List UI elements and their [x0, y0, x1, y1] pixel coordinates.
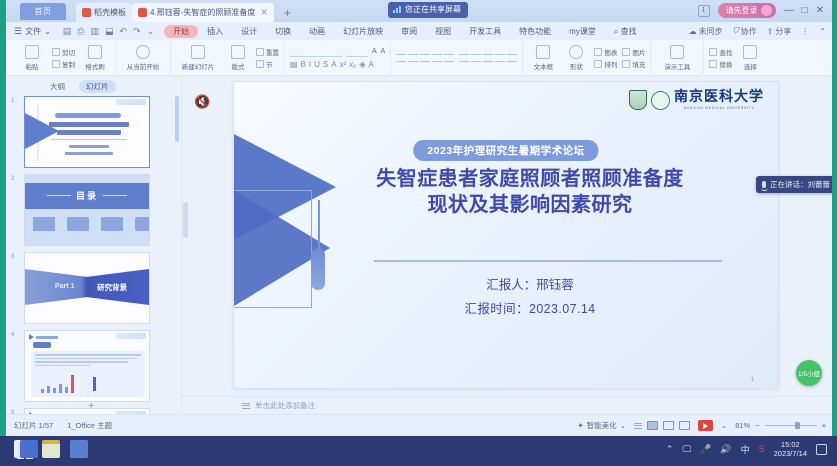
clock-date: 2023/7/14 — [774, 449, 807, 458]
print-icon[interactable]: ⎙ — [77, 26, 84, 37]
textbox-button[interactable]: 文本框 — [528, 45, 558, 71]
font-family-input[interactable] — [290, 47, 342, 57]
slide-number: 2 — [11, 176, 14, 182]
font-controls: A A ▤ B I U S A x² x₂ ◈ — [290, 47, 385, 69]
slide-thumbnail-4[interactable] — [24, 330, 150, 402]
tab-close-icon[interactable]: ✕ — [260, 7, 268, 18]
export-pdf-icon[interactable]: ⬓ — [105, 26, 114, 37]
speaking-label: 正在讲话：刘蕾蕾 — [770, 179, 830, 190]
paste-icon — [25, 45, 39, 59]
grow-font-button[interactable]: A — [372, 48, 377, 55]
ribbon-tab-developer[interactable]: 开发工具 — [460, 25, 510, 38]
ribbon-tab-design[interactable]: 设计 — [232, 25, 266, 38]
ribbon-tab-start[interactable]: 开始 — [164, 25, 198, 38]
thumb-rule — [51, 139, 127, 140]
increase-indent-button[interactable] — [432, 54, 442, 62]
taskbar-apps — [14, 440, 88, 458]
slide-thumbnail-1[interactable] — [24, 96, 150, 168]
subscript-button[interactable]: x₂ — [349, 60, 356, 69]
pane-resize-handle[interactable] — [183, 202, 188, 238]
ribbon-tab-slideshow[interactable]: 幻灯片放映 — [334, 25, 392, 38]
title-bar-right: 1 请先登录 — □ ✕ — [698, 3, 824, 18]
more-options-icon[interactable]: ⋮ — [801, 27, 809, 36]
group-call-fab[interactable]: 1/5小组 — [796, 360, 822, 386]
select-icon — [743, 45, 757, 59]
thumb-bar-chart-2 — [93, 375, 96, 391]
screen: 首页 稻壳模板 4.邢钰蓉-失智症的照顾准备度 ✕ + 您正在共享屏幕 — [0, 0, 837, 466]
present-tools-button[interactable]: 演示工具 — [656, 45, 698, 71]
replace-button[interactable]: 替换 — [709, 59, 732, 69]
minimize-button[interactable]: — — [784, 5, 794, 16]
redo-icon[interactable]: ↷ — [133, 26, 141, 37]
chart-icon — [594, 48, 602, 56]
ribbon-group-clipboard: 粘贴 剪切 复制 格式刷 — [12, 41, 115, 75]
home-tab[interactable]: 首页 — [20, 3, 66, 20]
italic-button[interactable]: I — [309, 60, 311, 69]
format-painter-button[interactable]: 格式刷 — [80, 45, 110, 71]
ribbon-group-tools: 演示工具 — [650, 41, 703, 75]
paragraph-row-2 — [459, 54, 517, 62]
tab-label: 4.邢钰蓉-失智症的照顾准备度 — [150, 7, 255, 18]
title-bar: 首页 稻壳模板 4.邢钰蓉-失智症的照顾准备度 ✕ + 您正在共享屏幕 — [6, 0, 832, 22]
windows-taskbar: ⌃ 🖵 🎤 🔊 中 S 15:02 2023/7/14 — [0, 436, 837, 466]
zoom-level: 81% — [735, 421, 750, 430]
scissors-icon — [52, 48, 60, 56]
notes-pane[interactable]: 单击此处添加备注 — [182, 396, 832, 414]
zoom-in-button[interactable]: + — [822, 421, 826, 430]
thumbnail-row[interactable]: 3 Part 1 研究背景 — [24, 252, 181, 324]
zoom-slider[interactable] — [765, 425, 817, 426]
tab-presentation[interactable]: 4.邢钰蓉-失智症的照顾准备度 ✕ — [132, 3, 274, 22]
thumb-title-line-1 — [49, 122, 129, 127]
thumbnail-row[interactable]: 1 — [24, 96, 181, 168]
volume-icon[interactable]: 🔊 — [720, 444, 731, 455]
ribbon-tab-insert[interactable]: 插入 — [198, 25, 232, 38]
share-icon: ⇪ — [767, 27, 774, 36]
image-icon — [622, 48, 630, 56]
slide-title-line-1: 失智症患者家庭照顾者照顾准备度 — [292, 166, 768, 192]
thumb-text-lines — [35, 354, 141, 368]
bold-button[interactable]: B — [301, 60, 306, 69]
speaking-indicator: 正在讲话：刘蕾蕾 — [756, 176, 832, 193]
new-slide-button[interactable]: 新建幻灯片 — [176, 45, 220, 71]
share-border-right — [832, 0, 837, 466]
play-triangle-icon — [29, 334, 34, 340]
insert-small-buttons: 图表 排列 — [594, 47, 617, 69]
ribbon-group-paragraph — [390, 41, 522, 75]
toc-title: 目录 — [25, 189, 149, 202]
reset-icon — [256, 48, 264, 56]
thumb-tag — [33, 342, 51, 348]
ribbon-tab-find[interactable]: ⌕ 查找 — [605, 25, 646, 38]
thumb-logo — [116, 99, 146, 105]
active-slide[interactable]: 南京医科大学 NANJING MEDICAL UNIVERSITY 2023年护… — [234, 82, 778, 388]
text-direction-button[interactable] — [507, 54, 517, 62]
fill-button[interactable]: 填充 — [622, 59, 645, 69]
hamburger-icon: ☰ — [14, 26, 22, 37]
slideshow-dropdown-icon[interactable]: ⌄ — [721, 421, 727, 430]
ime-indicator[interactable]: 中 — [741, 443, 750, 456]
beautify-button[interactable]: ✦ 智能美化 ⌄ — [577, 420, 626, 431]
normal-view-button[interactable] — [647, 421, 658, 430]
slide-title: 失智症患者家庭照顾者照顾准备度 现状及其影响因素研究 — [292, 166, 768, 219]
align-right-button[interactable] — [483, 54, 493, 62]
slide-counter: 幻灯片 1/57 — [14, 420, 53, 431]
collaborate-button[interactable]: ⛉ 协作 — [733, 26, 757, 37]
clipboard-small-buttons: 剪切 复制 — [52, 47, 75, 69]
wps-office-icon[interactable] — [20, 440, 38, 458]
cut-button[interactable]: 剪切 — [52, 47, 75, 57]
ribbon-tab-review[interactable]: 审阅 — [392, 25, 426, 38]
slide-title-line-2: 现状及其影响因素研究 — [292, 192, 768, 218]
thumb-subtitle-2 — [65, 152, 113, 155]
layout-button[interactable]: 版式 — [225, 45, 251, 71]
view-buttons — [634, 421, 690, 430]
chevron-down-icon: ⌄ — [620, 421, 626, 430]
doc-count-badge: 1 — [698, 5, 710, 17]
tab-slides[interactable]: 幻灯片 — [79, 80, 116, 93]
line-spacing-button[interactable] — [444, 54, 454, 62]
editing-buttons: 查找 替换 — [709, 47, 732, 69]
search-icon: ⌕ — [614, 27, 618, 36]
justify-button[interactable] — [495, 54, 505, 62]
thumb-content-card — [31, 351, 145, 397]
login-button[interactable]: 请先登录 — [718, 3, 776, 18]
undo-icon[interactable]: ↶ — [120, 26, 128, 37]
paste-button[interactable]: 粘贴 — [17, 45, 47, 71]
thumbnail-row[interactable]: 4 — [24, 330, 181, 402]
present-tools-icon — [670, 45, 684, 59]
login-label: 请先登录 — [726, 5, 758, 16]
slide-number: 3 — [11, 254, 14, 260]
status-bar: 幻灯片 1/57 1_Office 主题 ✦ 智能美化 ⌄ — [6, 414, 832, 436]
slides-small-buttons: 重置 节 — [256, 47, 279, 69]
microphone-icon — [762, 181, 766, 188]
action-center-icon[interactable] — [816, 444, 827, 455]
thumb-header — [29, 334, 58, 340]
superscript-button[interactable]: x² — [340, 60, 347, 69]
text-color-icon[interactable]: A — [369, 60, 374, 69]
save-as-icon[interactable]: ▥ — [91, 26, 100, 37]
notes-view-icon[interactable] — [634, 423, 642, 429]
screen-share-badge: 您正在共享屏幕 — [388, 2, 468, 18]
zoom-control: 81% − + — [735, 421, 826, 430]
tab-template-store[interactable]: 稻壳模板 — [76, 3, 132, 22]
strikethrough-button[interactable]: S — [323, 60, 328, 69]
maximize-button[interactable]: □ — [802, 5, 808, 16]
thumb-logo — [116, 333, 146, 339]
close-button[interactable]: ✕ — [816, 5, 824, 16]
copy-icon — [52, 60, 60, 68]
highlight-icon[interactable]: ▤ — [290, 60, 298, 69]
ribbon-group-editing: 查找 替换 选择 — [703, 41, 768, 75]
customize-icon[interactable]: ⌄ — [147, 26, 155, 37]
tab-outline[interactable]: 大纲 — [50, 81, 65, 92]
brush-icon — [88, 45, 102, 59]
bullets-button[interactable] — [396, 54, 406, 62]
layout-icon — [231, 45, 245, 59]
status-bar-right: ✦ 智能美化 ⌄ ⌄ 81% − — [577, 420, 826, 431]
report-date-line: 汇报时间：2023.07.14 — [292, 298, 768, 322]
slide-divider — [374, 260, 722, 262]
ribbon-tab-transition[interactable]: 切换 — [266, 25, 300, 38]
numbering-button[interactable] — [408, 54, 418, 62]
decrease-indent-button[interactable] — [420, 54, 430, 62]
system-tray: ⌃ 🖵 🎤 🔊 中 S 15:02 2023/7/14 — [666, 440, 827, 459]
clock-time: 15:02 — [774, 440, 807, 449]
shrink-font-button[interactable]: A — [381, 48, 386, 55]
tab-label: 稻壳模板 — [94, 7, 126, 18]
ribbon-tab-bar: ☰ 文件 ⌄ ▤ ⎙ ▥ ⬓ ↶ ↷ ⌄ 开始 插入 设计 切换 动画 — [6, 22, 832, 40]
sync-status-button[interactable]: ☁ 未同步 — [689, 26, 723, 37]
clear-format-icon[interactable]: ◈ — [359, 60, 365, 69]
ribbon-tab-features[interactable]: 特色功能 — [510, 25, 560, 38]
font-style-buttons: ▤ B I U S A x² x₂ ◈ A — [290, 60, 385, 69]
slide-thumbnail-3[interactable]: Part 1 研究背景 — [24, 252, 150, 324]
align-left-button[interactable] — [459, 54, 469, 62]
slide-metadata: 汇报人：邢钰蓉 汇报时间：2023.07.14 — [292, 274, 768, 322]
thumb-triangle — [25, 113, 59, 149]
notes-placeholder: 单击此处添加备注 — [255, 400, 315, 411]
thumb-badge — [55, 113, 121, 118]
image-button[interactable]: 图片 — [622, 47, 645, 57]
reading-view-button[interactable] — [679, 421, 690, 430]
file-menu-label: 文件 — [25, 26, 41, 37]
wps-tray-icon[interactable]: S — [759, 444, 765, 454]
university-pinyin: NANJING MEDICAL UNIVERSITY — [684, 106, 755, 110]
slide-number: 4 — [11, 332, 14, 338]
university-logo: 南京医科大学 NANJING MEDICAL UNIVERSITY — [629, 90, 764, 110]
ribbon-right-actions: ☁ 未同步 ⛉ 协作 ⇪ 分享 ⋮ ⌃ — [689, 26, 826, 37]
thumb-title-line-2 — [57, 130, 121, 135]
part-ribbon-shape — [25, 269, 149, 305]
taskbar-clock[interactable]: 15:02 2023/7/14 — [774, 440, 807, 459]
file-menu-button[interactable]: ☰ 文件 ⌄ — [14, 26, 51, 37]
arrange-icon — [594, 60, 602, 68]
section-button[interactable]: 节 — [256, 59, 279, 69]
zoom-out-button[interactable]: − — [755, 421, 759, 430]
slide-sorter-button[interactable] — [663, 421, 674, 430]
text-shadow-button[interactable]: A — [331, 60, 336, 69]
replace-icon — [709, 60, 717, 68]
presenter-line: 汇报人：邢钰蓉 — [292, 274, 768, 298]
wps-office-window: 首页 稻壳模板 4.邢钰蓉-失智症的照顾准备度 ✕ + 您正在共享屏幕 — [6, 0, 832, 436]
start-from-current-button[interactable]: 从当前开始 — [121, 45, 165, 71]
toc-cells — [33, 217, 150, 231]
start-slideshow-button[interactable] — [698, 420, 713, 431]
network-icon[interactable]: 🖵 — [682, 444, 691, 455]
collapse-ribbon-icon[interactable]: ⌃ — [819, 27, 826, 36]
thumbnail-scrollbar[interactable] — [175, 96, 179, 142]
ribbon-group-insert: 文本框 形状 图表 排列 — [522, 41, 650, 75]
chart-button[interactable]: 图表 — [594, 47, 617, 57]
copy-button[interactable]: 复制 — [52, 59, 75, 69]
new-tab-button[interactable]: + — [284, 6, 291, 20]
theme-name: 1_Office 主题 — [67, 420, 112, 431]
new-slide-icon — [191, 45, 205, 59]
slide-thumbnail-2[interactable]: 目录 — [24, 174, 150, 246]
slide-stage: 🔇 南京医科大学 — [182, 76, 832, 414]
select-button[interactable]: 选择 — [737, 45, 763, 71]
part-label: Part 1 — [55, 283, 74, 290]
add-slide-button[interactable]: + — [88, 400, 94, 412]
quick-access-toolbar: ▤ ⎙ ▥ ⬓ ↶ ↷ ⌄ — [63, 26, 154, 37]
thumbnail-row[interactable]: 2 目录 — [24, 174, 181, 246]
avatar — [761, 5, 772, 16]
ribbon-group-slides: 新建幻灯片 版式 重置 节 — [170, 41, 284, 75]
show-hidden-icons[interactable]: ⌃ — [666, 444, 674, 455]
play-circle-icon — [136, 45, 150, 59]
notes-icon — [242, 403, 250, 409]
font-size-input[interactable] — [346, 47, 368, 57]
ppt-icon — [138, 8, 147, 17]
shape-icon — [569, 45, 583, 59]
shield-emblem-icon — [629, 90, 647, 110]
thumb-subtitle-1 — [69, 145, 109, 148]
fill-icon — [622, 60, 630, 68]
thumbnail-list: 1 — [6, 96, 181, 434]
section-icon — [256, 60, 264, 68]
template-icon — [82, 8, 91, 17]
slide-thumbnail-pane: 大纲 幻灯片 1 — [6, 76, 182, 414]
ribbon-tab-animation[interactable]: 动画 — [300, 25, 334, 38]
file-explorer-icon[interactable] — [42, 440, 60, 458]
insert-small-buttons-2: 图片 填充 — [622, 47, 645, 69]
microphone-icon[interactable]: 🎤 — [700, 444, 711, 455]
cloud-icon: ☁ — [689, 27, 697, 36]
underline-button[interactable]: U — [314, 60, 320, 69]
align-center-button[interactable] — [471, 54, 481, 62]
find-button[interactable]: 查找 — [709, 47, 732, 57]
slide-page-number: 1 — [751, 377, 754, 383]
ribbon-group-font: A A ▤ B I U S A x² x₂ ◈ — [284, 41, 390, 75]
screen-share-frame: 首页 稻壳模板 4.邢钰蓉-失智症的照顾准备度 ✕ + 您正在共享屏幕 — [0, 0, 837, 466]
signal-icon — [393, 6, 401, 13]
ribbon-tab-myclass[interactable]: my课堂 — [560, 25, 605, 38]
forum-badge: 2023年护理研究生暑期学术论坛 — [413, 140, 598, 161]
audio-mute-icon[interactable]: 🔇 — [194, 94, 210, 110]
thumb-bar-chart — [41, 375, 74, 393]
share-badge-label: 您正在共享屏幕 — [405, 4, 461, 15]
meeting-app-icon[interactable] — [70, 440, 88, 458]
textbox-icon — [536, 45, 550, 59]
part-title: 研究背景 — [97, 282, 127, 293]
ribbon-group-slideshow: 从当前开始 — [115, 41, 170, 75]
paragraph-row-1 — [396, 54, 454, 62]
sparkle-icon: ✦ — [577, 421, 583, 430]
people-icon: ⛉ — [733, 26, 739, 36]
chevron-down-icon: ⌄ — [44, 27, 51, 36]
slide-number: 1 — [11, 98, 14, 104]
reset-button[interactable]: 重置 — [256, 47, 279, 57]
thumbnail-pane-tabs: 大纲 幻灯片 — [6, 78, 181, 96]
share-button[interactable]: ⇪ 分享 — [767, 26, 792, 37]
search-icon — [709, 48, 717, 56]
arrange-button[interactable]: 排列 — [594, 59, 617, 69]
university-name: 南京医科大学 — [674, 90, 764, 104]
ribbon-toolbar: 粘贴 剪切 复制 格式刷 — [6, 40, 832, 76]
save-icon[interactable]: ▤ — [63, 26, 72, 37]
circle-emblem-icon — [651, 91, 670, 110]
shape-button[interactable]: 形状 — [563, 45, 589, 71]
zoom-slider-knob — [795, 422, 800, 429]
work-area: 大纲 幻灯片 1 — [6, 76, 832, 414]
ribbon-tab-view[interactable]: 视图 — [426, 25, 460, 38]
